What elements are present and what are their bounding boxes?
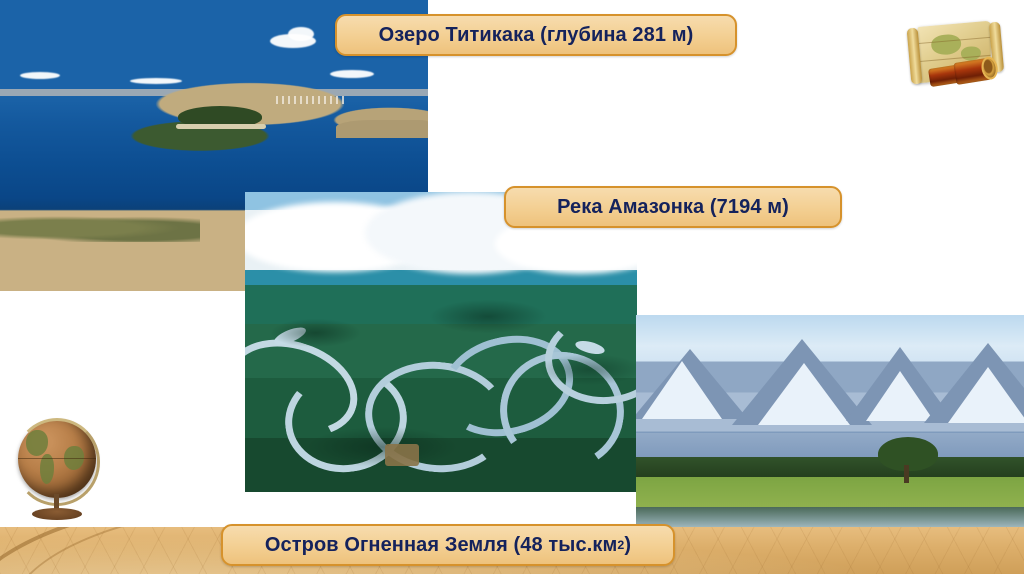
presentation-slide: Озеро Титикака (глубина 281 м) Река Амаз… — [0, 0, 1024, 574]
foreground-scrub — [0, 214, 200, 242]
old-map-and-spyglass-icon — [903, 22, 1007, 104]
headland — [336, 120, 428, 138]
distant-town — [276, 96, 346, 104]
mountain-peak — [758, 363, 850, 425]
mountain-peak — [948, 367, 1024, 423]
amazon-river-photo — [245, 192, 637, 492]
island-shore — [176, 124, 266, 129]
callout-label-text-main: Остров Огненная Земля (48 тыс.км — [265, 534, 618, 557]
mountain-peak — [642, 361, 722, 419]
cloud-shape — [330, 70, 374, 78]
antique-globe-icon — [12, 418, 108, 530]
cloud-shape — [130, 78, 182, 84]
callout-label-text: Река Амазонка (7194 м) — [557, 196, 789, 219]
tree-trunk — [904, 465, 909, 483]
callout-label-tierra-del-fuego: Остров Огненная Земля (48 тыс.км2) — [221, 524, 675, 566]
callout-label-amazon-river: Река Амазонка (7194 м) — [504, 186, 842, 228]
cloud-shape — [288, 27, 314, 41]
forest-canopy-texture — [245, 288, 637, 492]
cloud-shape — [20, 72, 60, 79]
map-landmass — [931, 33, 961, 56]
clearing-patch — [385, 444, 419, 466]
callout-label-text: Озеро Титикака (глубина 281 м) — [379, 24, 694, 47]
callout-label-lake-titicaca: Озеро Титикака (глубина 281 м) — [335, 14, 737, 56]
globe-meridian-ring — [14, 418, 100, 506]
callout-label-text-tail: ) — [624, 534, 631, 557]
globe-base — [32, 508, 82, 520]
